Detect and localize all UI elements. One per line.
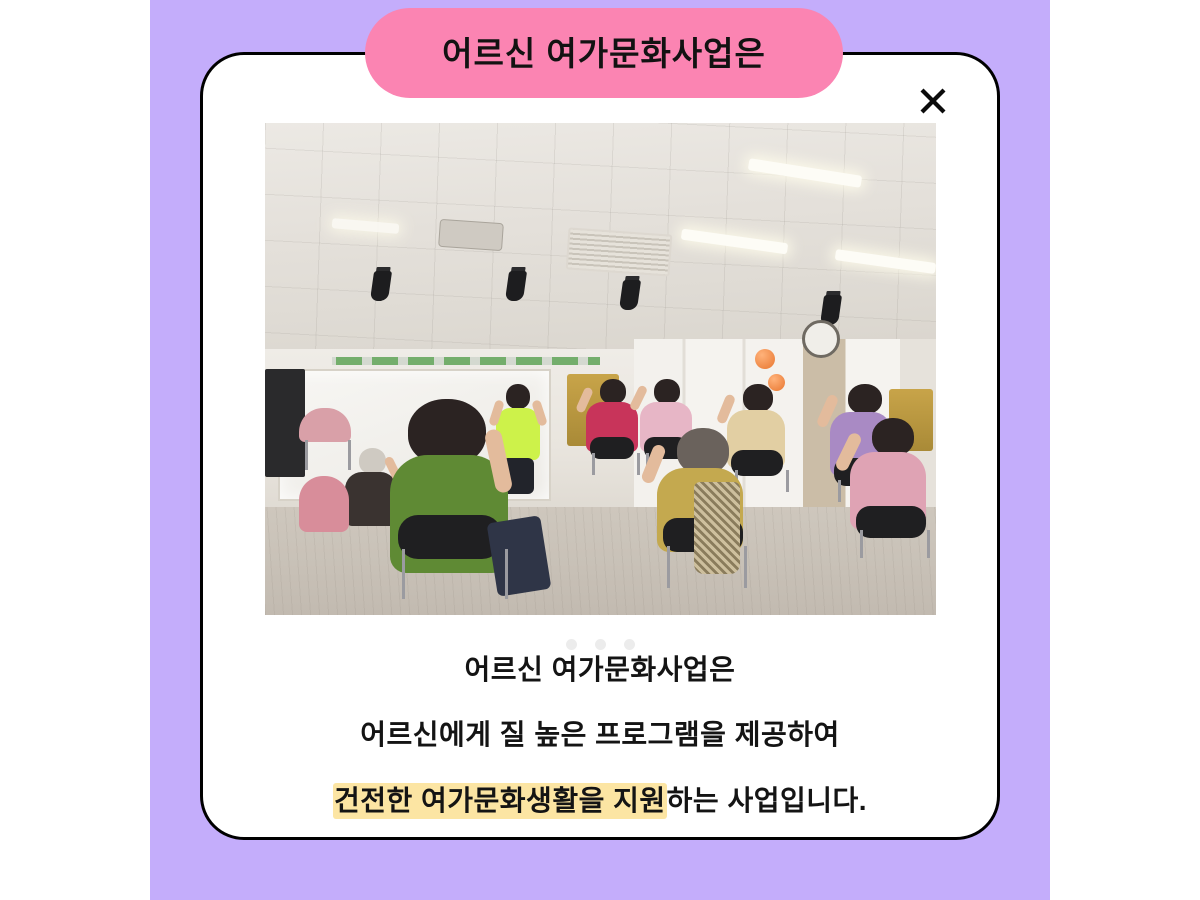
program-photo[interactable]	[265, 123, 936, 615]
title-badge-label: 어르신 여가문화사업은	[442, 37, 766, 70]
participant-foreground	[372, 399, 552, 599]
caption-line-1: 어르신 여가문화사업은	[210, 655, 990, 684]
carousel-dots[interactable]	[0, 639, 1200, 650]
photo-scene	[265, 123, 936, 615]
caption-block: 어르신 여가문화사업은 어르신에게 질 높은 프로그램을 제공하여 건전한 여가…	[210, 655, 990, 815]
caption-line-3-rest: 하는 사업입니다.	[667, 785, 867, 816]
caption-highlight: 건전한 여가문화생활을 지원	[333, 783, 667, 819]
title-badge: 어르신 여가문화사업은	[365, 8, 843, 98]
wall-banner-strip	[332, 357, 600, 365]
carousel-dot-1[interactable]	[566, 639, 577, 650]
screenshot-stage: 어르신 여가문화사업은	[0, 0, 1200, 900]
coat-on-chair	[694, 482, 740, 574]
caption-line-2: 어르신에게 질 높은 프로그램을 제공하여	[210, 720, 990, 749]
projector	[439, 219, 505, 251]
carousel-dot-3[interactable]	[624, 639, 635, 650]
close-icon	[918, 86, 948, 116]
close-button[interactable]	[908, 78, 958, 124]
participant	[842, 418, 936, 558]
stroller	[299, 408, 359, 478]
caption-line-3: 건전한 여가문화생활을 지원하는 사업입니다.	[210, 786, 990, 815]
wall-clock	[802, 320, 840, 358]
air-conditioner-vent	[566, 228, 673, 277]
carousel-dot-2[interactable]	[595, 639, 606, 650]
